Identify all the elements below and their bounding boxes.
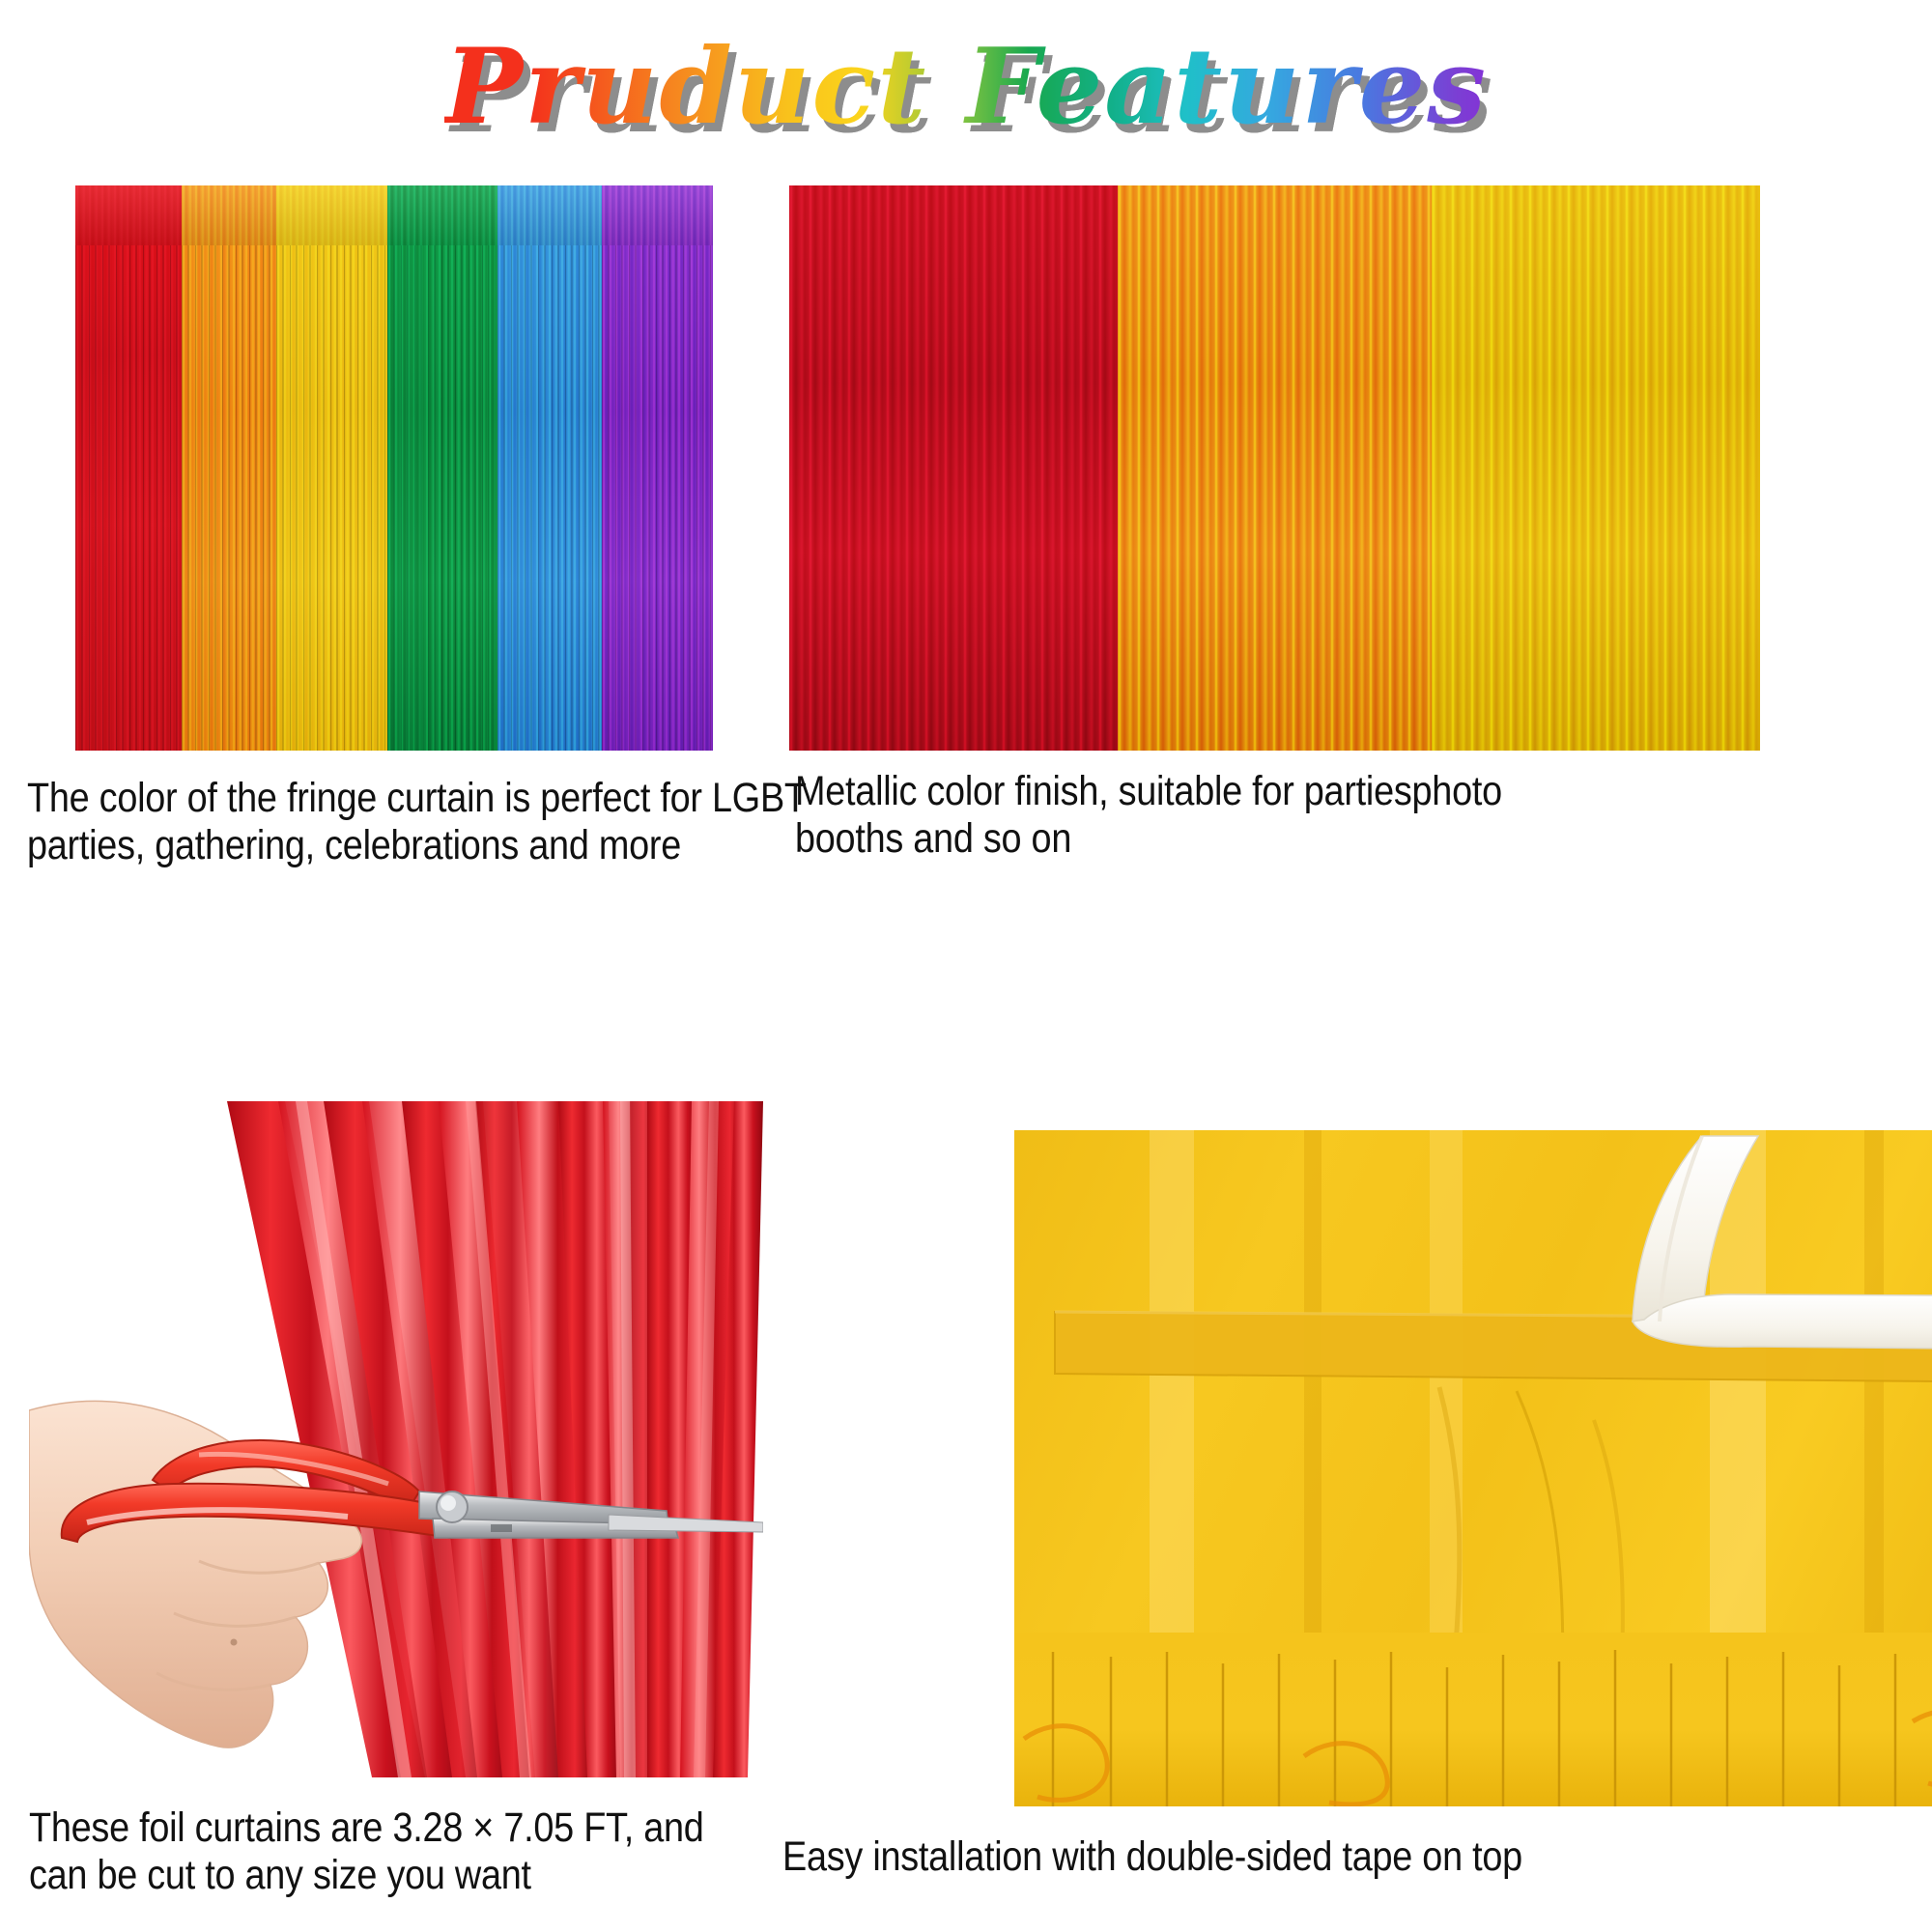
curtain-stripe-purple <box>602 185 713 751</box>
curtain-header-band <box>602 185 713 245</box>
caption-rainbow-line1: The color of the fringe curtain is perfe… <box>27 775 810 822</box>
panel-metallic: Metallic color finish, suitable for part… <box>789 185 1760 751</box>
caption-rainbow: The color of the fringe curtain is perfe… <box>27 775 810 868</box>
curtain-header-band <box>497 185 602 245</box>
rainbow-fringe-curtain-photo <box>75 185 713 751</box>
yellow-fringe-cuts <box>1014 1633 1932 1806</box>
foil-texture <box>1432 185 1760 751</box>
curtain-stripe-orange <box>1118 185 1432 751</box>
metallic-red-orange-yellow-curtain-photo <box>789 185 1760 751</box>
yellow-curtain-with-double-sided-tape-photo <box>1014 1130 1932 1806</box>
panel-rainbow: The color of the fringe curtain is perfe… <box>75 185 713 751</box>
curtain-stripe-blue <box>497 185 602 751</box>
caption-metallic-line2: booths and so on <box>795 815 1932 863</box>
curtain-stripe-yellow <box>1432 185 1760 751</box>
caption-metallic: Metallic color finish, suitable for part… <box>795 768 1932 862</box>
fringe-cuts <box>387 245 497 751</box>
curtain-stripe-red <box>75 185 182 751</box>
fringe-cuts <box>497 245 602 751</box>
page-title-container: Pruduct Features Pruduct Features Pruduc… <box>0 33 1932 158</box>
product-features-infographic: Pruduct Features Pruduct Features Pruduc… <box>0 0 1932 1932</box>
curtain-header-band <box>75 185 182 245</box>
fringe-cuts <box>276 245 387 751</box>
page-title-text: Pruduct Features <box>444 26 1488 148</box>
tape-scene-illustration <box>1014 1130 1932 1806</box>
caption-rainbow-line2: parties, gathering, celebrations and mor… <box>27 822 810 869</box>
caption-tape: Easy installation with double-sided tape… <box>782 1833 1932 1881</box>
caption-tape-line1: Easy installation with double-sided tape… <box>782 1833 1932 1881</box>
caption-cutting: These foil curtains are 3.28 × 7.05 FT, … <box>29 1804 811 1898</box>
scissors-scene-illustration <box>29 1101 763 1777</box>
foil-texture <box>789 185 1118 751</box>
caption-cutting-line2: can be cut to any size you want <box>29 1852 811 1899</box>
caption-metallic-line1: Metallic color finish, suitable for part… <box>795 768 1932 815</box>
fringe-cuts <box>75 245 182 751</box>
curtain-stripe-orange <box>182 185 276 751</box>
panel-cutting: These foil curtains are 3.28 × 7.05 FT, … <box>29 1101 763 1777</box>
page-title: Pruduct Features Pruduct Features Pruduc… <box>444 33 1488 142</box>
curtain-stripe-yellow <box>276 185 387 751</box>
curtain-header-band <box>276 185 387 245</box>
curtain-header-band <box>182 185 276 245</box>
panel-tape: Easy installation with double-sided tape… <box>1014 1130 1932 1806</box>
curtain-stripe-green <box>387 185 497 751</box>
foil-texture <box>1118 185 1432 751</box>
hand-cutting-red-fringe-with-scissors-photo <box>29 1101 763 1777</box>
caption-cutting-line1: These foil curtains are 3.28 × 7.05 FT, … <box>29 1804 811 1852</box>
fringe-cuts <box>602 245 713 751</box>
curtain-stripe-red <box>789 185 1118 751</box>
curtain-header-band <box>387 185 497 245</box>
fringe-cuts <box>182 245 276 751</box>
